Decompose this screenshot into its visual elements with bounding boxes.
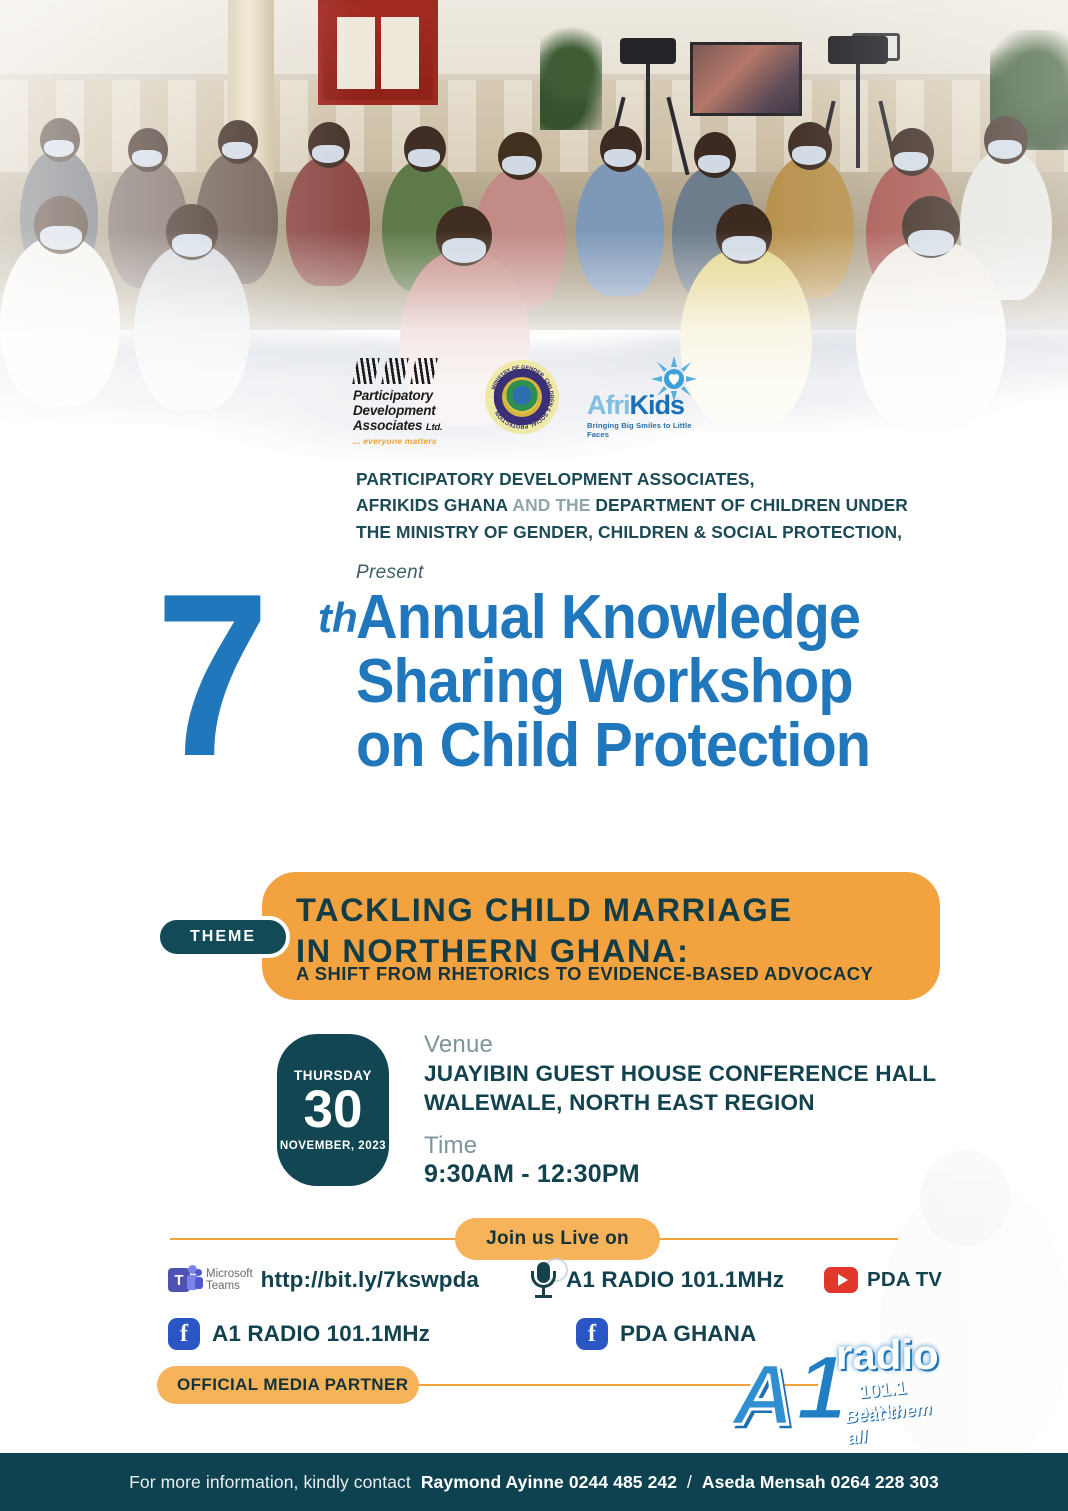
time-label: Time (424, 1132, 984, 1160)
pda-name-line1: Participatory (353, 388, 457, 403)
ministry-of-gender-coat-of-arms-logo: MINISTRY OF GENDER, CHILDREN & SOCIAL PR… (485, 360, 559, 434)
teams-brand-line2: Teams (206, 1280, 253, 1292)
theme-label-badge: THEME (156, 916, 290, 958)
live-channels-row-2: f A1 RADIO 101.1MHz f PDA GHANA (168, 1318, 756, 1350)
title-line-3: on Child Protection (356, 714, 933, 778)
facebook-a1-radio-label: A1 RADIO 101.1MHz (212, 1321, 430, 1347)
venue-label: Venue (424, 1031, 984, 1059)
date-month-year: NOVEMBER, 2023 (280, 1139, 386, 1154)
pda-name-line3: Associates (353, 418, 422, 433)
facebook-icon: f (168, 1318, 200, 1350)
time-value: 9:30AM - 12:30PM (424, 1160, 984, 1189)
a1-logo-tagline: Beat them all (844, 1397, 946, 1449)
footer-separator: / (687, 1472, 692, 1492)
microsoft-teams-icon: T (168, 1265, 202, 1295)
ghana-coat-of-arms-icon (505, 380, 539, 414)
partner-logos-row: Participatory Development Associates Ltd… (0, 358, 1068, 446)
footer-contact-text: For more information, kindly contact Ray… (129, 1472, 939, 1493)
footer-contact-1: Raymond Ayinne 0244 485 242 (421, 1472, 677, 1492)
pda-name-line2: Development (353, 403, 457, 418)
afrikids-logo: AfriKids Bringing Big Smiles to Little F… (587, 362, 715, 439)
footer-contact-2: Aseda Mensah 0264 228 303 (702, 1472, 939, 1492)
venue-details: Venue JUAYIBIN GUEST HOUSE CONFERENCE HA… (424, 1031, 984, 1189)
presenter-afrikids: AFRIKIDS GHANA (356, 495, 507, 515)
title-line-1: Annual Knowledge (356, 586, 933, 650)
venue-line-1: JUAYIBIN GUEST HOUSE CONFERENCE HALL (424, 1060, 984, 1088)
pda-name-suffix: Ltd. (426, 422, 443, 433)
contact-footer-bar: For more information, kindly contact Ray… (0, 1453, 1068, 1511)
venue-line-2: WALEWALE, NORTH EAST REGION (424, 1089, 984, 1117)
theme-heading: TACKLING CHILD MARRIAGE IN NORTHERN GHAN… (296, 890, 926, 971)
facebook-icon: f (576, 1318, 608, 1350)
presenter-line-1: PARTICIPATORY DEVELOPMENT ASSOCIATES, (356, 466, 996, 492)
teams-meeting-link[interactable]: http://bit.ly/7kswpda (261, 1267, 479, 1293)
presenter-line-2: AFRIKIDS GHANA AND THE DEPARTMENT OF CHI… (356, 492, 996, 518)
date-day-number: 30 (304, 1084, 363, 1136)
a1-radio-logo: A 1 radio 101.1 MHz Beat them all (724, 1330, 944, 1440)
pda-tagline: ... everyone matters (353, 436, 457, 446)
a1-radio-frequency-label: A1 RADIO 101.1MHz (566, 1267, 784, 1293)
a1-logo-word-radio: radio (836, 1334, 939, 1376)
footer-prefix: For more information, kindly contact (129, 1472, 411, 1492)
afrikids-name-part1: Afri (587, 390, 630, 420)
presenter-connector: AND THE (512, 495, 590, 515)
edition-ordinal: th (318, 594, 358, 642)
channel-facebook-a1-radio[interactable]: f A1 RADIO 101.1MHz (168, 1318, 430, 1350)
date-badge: THURSDAY 30 NOVEMBER, 2023 (277, 1034, 389, 1186)
channel-microsoft-teams[interactable]: T Microsoft Teams http://bit.ly/7kswpda (168, 1265, 479, 1295)
official-media-partner-badge: OFFICIAL MEDIA PARTNER (157, 1366, 419, 1404)
channel-pda-tv[interactable]: PDA TV (824, 1267, 942, 1293)
poster-content: Participatory Development Associates Ltd… (0, 0, 1068, 1511)
microsoft-teams-wordmark: Microsoft Teams (206, 1268, 253, 1293)
channel-a1-radio[interactable]: A1 RADIO 101.1MHz (527, 1258, 784, 1302)
join-live-heading: Join us Live on (455, 1218, 660, 1260)
title-line-2: Sharing Workshop (356, 650, 933, 714)
edition-number: 7 (156, 576, 270, 776)
teams-brand-line1: Microsoft (206, 1268, 253, 1280)
afrikids-tagline: Bringing Big Smiles to Little Faces (587, 421, 715, 439)
presenter-line-3: THE MINISTRY OF GENDER, CHILDREN & SOCIA… (356, 519, 996, 545)
pda-logo-name: Participatory Development Associates Ltd… (353, 388, 457, 434)
presenting-organizations: PARTICIPATORY DEVELOPMENT ASSOCIATES, AF… (356, 466, 996, 588)
microphone-icon (527, 1258, 559, 1302)
pda-logo: Participatory Development Associates Ltd… (353, 358, 457, 446)
pda-hatch-marks-icon (353, 358, 457, 384)
a1-logo-letter-a: A (732, 1352, 794, 1438)
youtube-icon (824, 1267, 858, 1293)
pda-tv-label: PDA TV (867, 1268, 942, 1292)
theme-subtitle: A SHIFT FROM RHETORICS TO EVIDENCE-BASED… (296, 963, 936, 985)
theme-line-1: TACKLING CHILD MARRIAGE (296, 890, 926, 931)
afrikids-sun-heart-icon (651, 356, 697, 402)
title-lines: Annual Knowledge Sharing Workshop on Chi… (356, 586, 933, 778)
live-channels-row-1: T Microsoft Teams http://bit.ly/7kswpda … (168, 1258, 942, 1302)
presenter-dept: DEPARTMENT OF CHILDREN UNDER (595, 495, 908, 515)
